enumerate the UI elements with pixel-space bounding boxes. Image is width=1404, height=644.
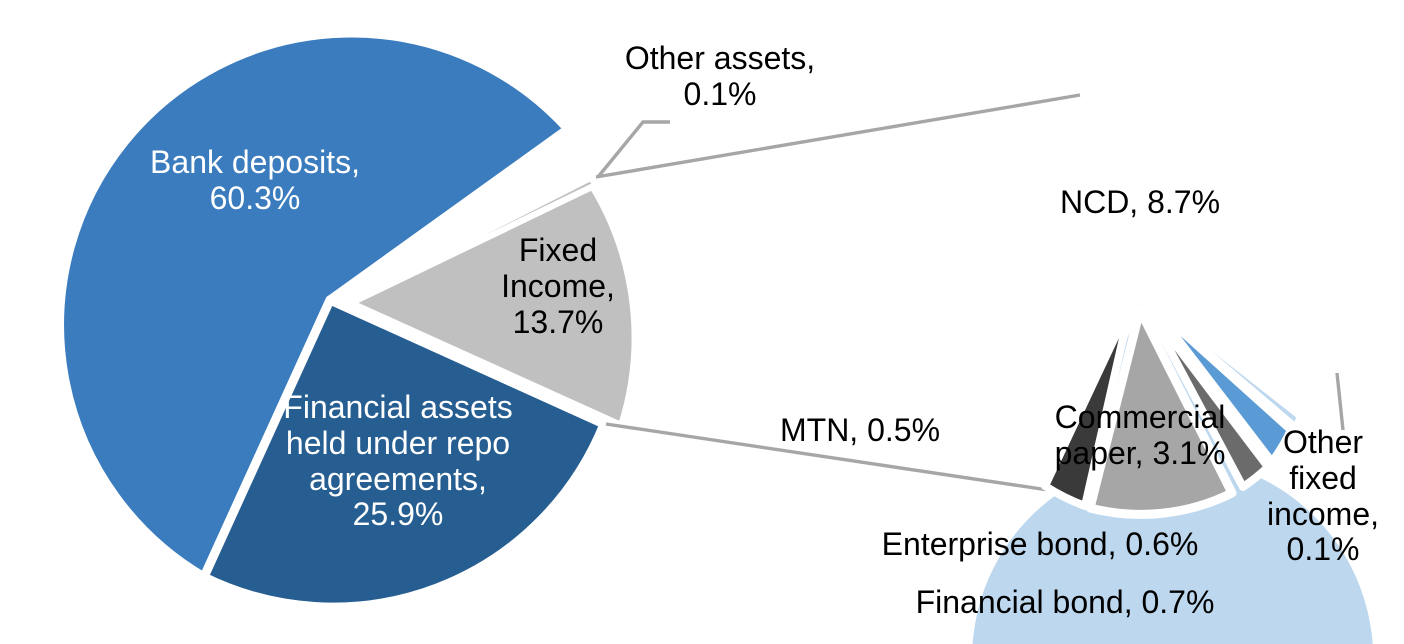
label-other-fixed-income: Other fixed income, 0.1% [1258, 425, 1388, 568]
label-commercial-paper: Commercial paper, 3.1% [1030, 400, 1250, 472]
label-bank-deposits: Bank deposits, 60.3% [110, 145, 400, 217]
label-fixed-income: Fixed Income, 13.7% [478, 233, 638, 340]
leader-other-fixed-income [1337, 373, 1343, 430]
label-repo-agreements: Financial assets held under repo agreeme… [258, 390, 538, 533]
label-ncd: NCD, 8.7% [1020, 185, 1260, 221]
label-enterprise-bond: Enterprise bond, 0.6% [860, 527, 1220, 563]
leader-other-assets [598, 122, 670, 177]
label-other-assets: Other assets, 0.1% [600, 41, 840, 113]
label-financial-bond: Financial bond, 0.7% [890, 585, 1240, 621]
label-mtn: MTN, 0.5% [755, 413, 965, 449]
pie-of-pie-chart: Bank deposits, 60.3% Financial assets he… [0, 0, 1404, 644]
